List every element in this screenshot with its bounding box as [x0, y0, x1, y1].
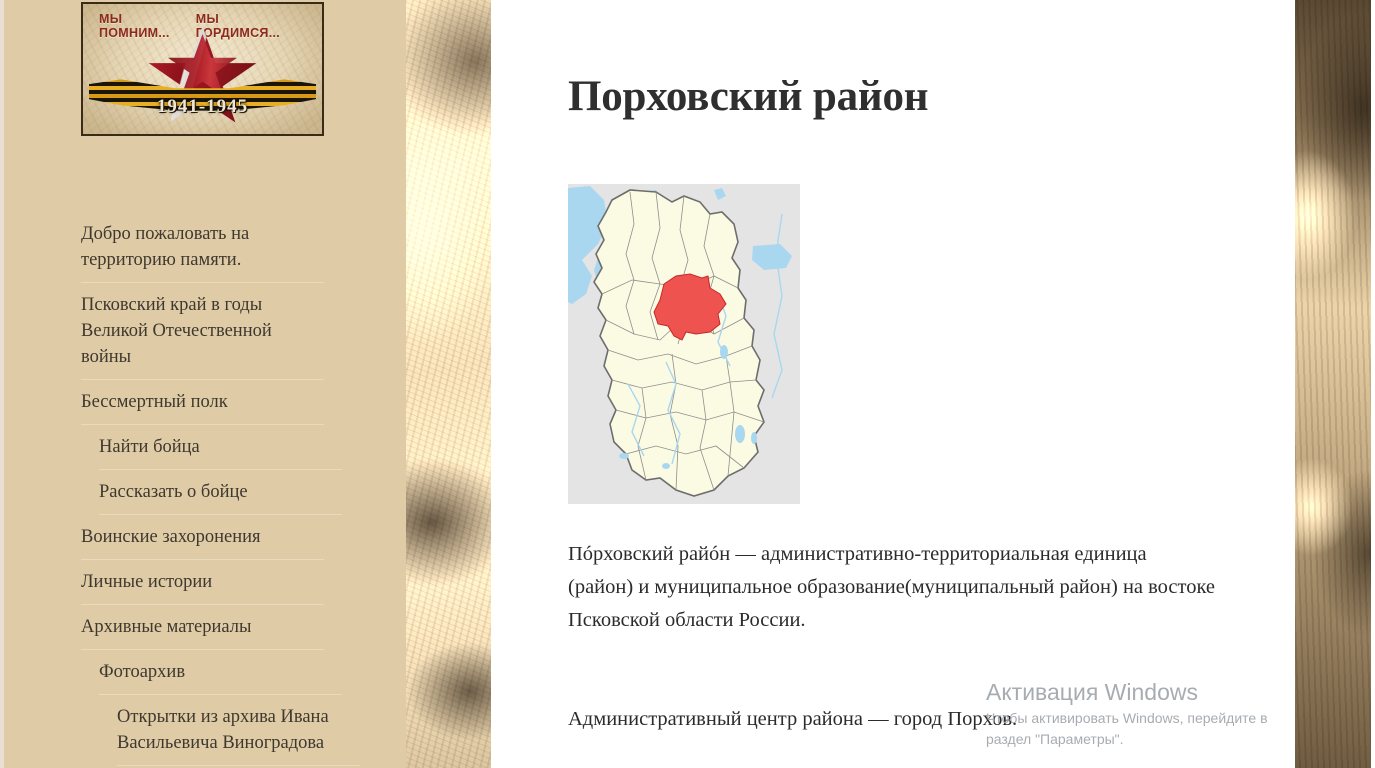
sidebar-item-label: Бессмертный полк	[81, 389, 309, 415]
site-logo-banner[interactable]: МЫ ПОМНИМ... МЫ ГОРДИМСЯ... 1941-1945	[81, 2, 324, 136]
sidebar-item-label: Открытки из архива Ивана Васильевича Вин…	[117, 704, 345, 756]
logo-slogan-right: МЫ ГОРДИМСЯ...	[196, 12, 306, 40]
sidebar-item-label: Воинские захоронения	[81, 524, 309, 550]
sidebar-nav: Добро пожаловать на территорию памяти.Пс…	[0, 212, 406, 766]
sidebar-item-9[interactable]: Фотоархив	[99, 650, 406, 695]
main-content: Порховский район	[491, 0, 1295, 768]
background-photo-right-soldier-portrait	[1293, 0, 1375, 768]
logo-years-label: 1941-1945	[83, 96, 322, 118]
sidebar-item-label: Найти бойца	[99, 434, 327, 460]
district-locator-map[interactable]	[568, 184, 800, 504]
sidebar-item-label: Личные истории	[81, 569, 309, 595]
sidebar-item-2[interactable]: Псковский край в годы Великой Отечествен…	[81, 283, 406, 380]
logo-slogan-left: МЫ ПОМНИМ...	[99, 12, 196, 40]
background-photo-left-soldier	[405, 0, 495, 768]
sidebar-item-6[interactable]: Воинские захоронения	[81, 515, 406, 560]
sidebar-item-label: Фотоархив	[99, 659, 327, 685]
sidebar-item-3[interactable]: Бессмертный полк	[81, 380, 406, 425]
sidebar-item-10[interactable]: Открытки из архива Ивана Васильевича Вин…	[117, 695, 406, 766]
sidebar-item-7[interactable]: Личные истории	[81, 560, 406, 605]
sidebar-item-4[interactable]: Найти бойца	[99, 425, 406, 470]
sidebar-item-label: Рассказать о бойце	[99, 479, 327, 505]
district-description-paragraph: Пóрховский райóн — административно-терри…	[568, 538, 1216, 637]
sidebar-item-label: Добро пожаловать на территорию памяти.	[81, 221, 309, 273]
sidebar-item-label: Архивные материалы	[81, 614, 309, 640]
page-root: МЫ ПОМНИМ... МЫ ГОРДИМСЯ... 1941-1945 До…	[0, 0, 1375, 768]
sidebar-item-1[interactable]: Добро пожаловать на территорию памяти.	[81, 212, 406, 283]
page-title: Порховский район	[568, 73, 928, 120]
sidebar-item-8[interactable]: Архивные материалы	[81, 605, 406, 650]
background-right-edge	[1371, 0, 1375, 768]
sidebar: МЫ ПОМНИМ... МЫ ГОРДИМСЯ... 1941-1945 До…	[0, 0, 406, 768]
map-icon	[568, 184, 800, 504]
sidebar-item-5[interactable]: Рассказать о бойце	[99, 470, 406, 515]
district-center-paragraph: Административный центр района — город По…	[568, 703, 1216, 736]
sidebar-item-label: Псковский край в годы Великой Отечествен…	[81, 292, 309, 370]
